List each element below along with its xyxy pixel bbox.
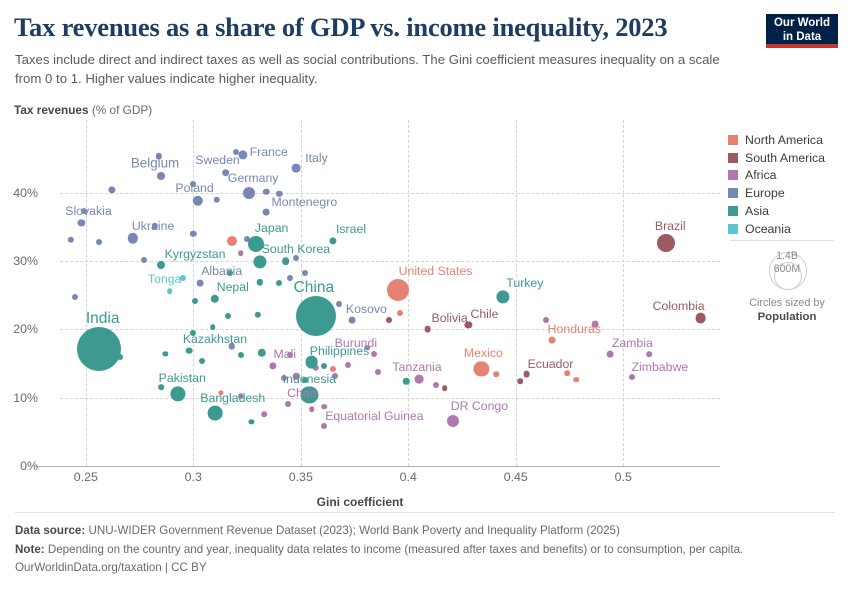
legend-item-africa[interactable]: Africa xyxy=(728,167,846,185)
scatter-point-burundi[interactable] xyxy=(371,351,377,357)
scatter-label-honduras: Honduras xyxy=(548,322,601,336)
scatter-point-belgium[interactable] xyxy=(157,172,165,180)
scatter-label-belgium: Belgium xyxy=(131,156,179,171)
scatter-point[interactable] xyxy=(68,237,74,243)
gridline-vertical xyxy=(516,120,517,466)
size-legend-caption: Circles sized by Population xyxy=(728,296,846,324)
legend-item-asia[interactable]: Asia xyxy=(728,202,846,220)
scatter-point-tanzania[interactable] xyxy=(415,375,424,384)
gridline-vertical xyxy=(623,120,624,466)
scatter-point-dr-congo[interactable] xyxy=(447,415,459,427)
scatter-label-ecuador: Ecuador xyxy=(528,357,574,371)
x-axis-tick-label: 0.4 xyxy=(400,470,417,484)
scatter-point[interactable] xyxy=(321,363,327,369)
x-axis-tick-label: 0.3 xyxy=(185,470,202,484)
scatter-label-italy: Italy xyxy=(305,151,328,165)
scatter-point[interactable] xyxy=(494,372,500,378)
gridline-horizontal xyxy=(60,193,720,194)
legend-swatch-icon xyxy=(728,170,738,180)
scatter-point-ecuador[interactable] xyxy=(523,371,530,378)
gridline-horizontal xyxy=(60,329,720,330)
scatter-point[interactable] xyxy=(249,419,254,424)
scatter-point[interactable] xyxy=(386,317,392,323)
footer-license[interactable]: OurWorldinData.org/taxation | CC BY xyxy=(15,559,835,578)
footer-source-label: Data source: xyxy=(15,524,85,537)
y-axis-tick-label: 40% xyxy=(4,186,38,200)
scatter-point-montenegro[interactable] xyxy=(263,209,270,216)
scatter-label-poland: Poland xyxy=(175,181,213,195)
legend-swatch-icon xyxy=(728,153,738,163)
scatter-point-tonga[interactable] xyxy=(167,288,173,294)
owid-logo[interactable]: Our World in Data xyxy=(766,14,838,48)
scatter-point[interactable] xyxy=(158,385,164,391)
scatter-point-india[interactable] xyxy=(77,327,121,371)
scatter-point[interactable] xyxy=(72,294,78,300)
y-axis-tick-label: 10% xyxy=(4,391,38,405)
footer-note-label: Note: xyxy=(15,543,45,556)
scatter-point[interactable] xyxy=(257,279,263,285)
scatter-point-zimbabwe[interactable] xyxy=(629,374,635,380)
scatter-point[interactable] xyxy=(276,280,282,286)
scatter-point-bangladesh[interactable] xyxy=(207,406,222,421)
scatter-point[interactable] xyxy=(227,236,237,246)
scatter-label-turkey: Turkey xyxy=(506,276,543,290)
footer-note-text: Depending on the country and year, inequ… xyxy=(48,543,743,556)
scatter-point[interactable] xyxy=(214,196,220,202)
page-title: Tax revenues as a share of GDP vs. incom… xyxy=(14,12,667,43)
chart-subtitle: Taxes include direct and indirect taxes … xyxy=(15,50,735,88)
scatter-point[interactable] xyxy=(238,251,244,257)
footer-source-text: UNU-WIDER Government Revenue Dataset (20… xyxy=(88,524,619,537)
footer-note-line: Note: Depending on the country and year,… xyxy=(15,541,835,560)
scatter-point-equatorial-guinea[interactable] xyxy=(321,423,327,429)
legend-item-label: North America xyxy=(745,133,823,147)
legend-item-label: Oceania xyxy=(745,222,791,236)
legend-item-europe[interactable]: Europe xyxy=(728,184,846,202)
scatter-label-mali: Mali xyxy=(274,347,297,361)
scatter-label-mexico: Mexico xyxy=(464,346,503,360)
scatter-point-colombia[interactable] xyxy=(695,312,706,323)
size-legend-lower-value: 600M xyxy=(728,263,846,275)
scatter-point-albania[interactable] xyxy=(196,279,203,286)
scatter-point-mexico[interactable] xyxy=(474,361,489,376)
scatter-point-nepal[interactable] xyxy=(211,294,219,302)
y-axis-label: Tax revenues (% of GDP) xyxy=(14,103,152,117)
scatter-point[interactable] xyxy=(517,378,523,384)
gridline-horizontal xyxy=(60,398,720,399)
scatter-label-ukraine: Ukraine xyxy=(132,219,174,233)
legend-item-oceania[interactable]: Oceania xyxy=(728,220,846,238)
scatter-label-bolivia: Bolivia xyxy=(431,311,467,325)
scatter-point[interactable] xyxy=(375,369,381,375)
scatter-point-brazil[interactable] xyxy=(657,234,675,252)
x-axis-tick-label: 0.25 xyxy=(74,470,98,484)
scatter-label-tonga: Tonga xyxy=(148,272,182,286)
scatter-label-indonesia: Indonesia xyxy=(283,372,336,386)
scatter-point[interactable] xyxy=(282,257,290,265)
scatter-label-kyrgyzstan: Kyrgyzstan xyxy=(165,247,226,261)
scatter-label-slovakia: Slovakia xyxy=(65,204,111,218)
legend-swatch-icon xyxy=(728,188,738,198)
scatter-point[interactable] xyxy=(302,270,308,276)
scatter-point[interactable] xyxy=(96,239,102,245)
scatter-point[interactable] xyxy=(261,411,267,417)
legend-item-label: Africa xyxy=(745,168,776,182)
scatter-point[interactable] xyxy=(433,382,439,388)
legend-item-label: Asia xyxy=(745,204,769,218)
scatter-point-chad[interactable] xyxy=(285,401,291,407)
scatter-label-brazil: Brazil xyxy=(655,219,686,233)
scatter-point[interactable] xyxy=(141,257,147,263)
scatter-label-albania: Albania xyxy=(201,264,242,278)
scatter-label-united-states: United States xyxy=(399,264,473,278)
x-axis-line xyxy=(35,466,720,467)
owid-logo-line2: in Data xyxy=(766,31,838,45)
footer-source-line: Data source: UNU-WIDER Government Revenu… xyxy=(15,522,835,541)
scatter-point[interactable] xyxy=(345,362,351,368)
scatter-point-ukraine[interactable] xyxy=(128,233,138,243)
chart-footer: Data source: UNU-WIDER Government Revenu… xyxy=(15,522,835,578)
scatter-point[interactable] xyxy=(442,385,448,391)
chart-page: Tax revenues as a share of GDP vs. incom… xyxy=(0,0,850,600)
scatter-point[interactable] xyxy=(163,351,168,356)
scatter-point-pakistan[interactable] xyxy=(171,387,186,402)
scatter-point-kyrgyzstan[interactable] xyxy=(157,261,165,269)
scatter-point[interactable] xyxy=(309,406,315,412)
scatter-point-israel[interactable] xyxy=(329,238,336,245)
y-axis-tick-label: 0% xyxy=(4,459,38,473)
legend-item-label: South America xyxy=(745,151,825,165)
scatter-point-honduras[interactable] xyxy=(549,337,556,344)
scatter-point[interactable] xyxy=(199,358,205,364)
scatter-plot-area[interactable]: 0%10%20%30%40%0.250.30.350.40.450.5Belgi… xyxy=(0,120,740,470)
x-axis-tick-label: 0.5 xyxy=(615,470,632,484)
scatter-point[interactable] xyxy=(238,352,244,358)
scatter-label-japan: Japan xyxy=(255,221,289,235)
scatter-point-slovakia[interactable] xyxy=(78,219,85,226)
scatter-point-bolivia[interactable] xyxy=(424,326,431,333)
size-legend-caption-text: Circles sized by xyxy=(749,297,825,309)
scatter-point[interactable] xyxy=(573,377,579,383)
scatter-label-equatorial-guinea: Equatorial Guinea xyxy=(325,409,423,423)
legend-divider xyxy=(730,240,834,241)
legend-item-label: Europe xyxy=(745,186,785,200)
scatter-label-china: China xyxy=(294,279,335,297)
scatter-point[interactable] xyxy=(210,324,216,330)
y-axis-tick-label: 20% xyxy=(4,322,38,336)
scatter-point-kosovo[interactable] xyxy=(349,316,356,323)
scatter-label-israel: Israel xyxy=(336,222,366,236)
x-axis-label: Gini coefficient xyxy=(0,495,720,509)
y-axis-tick-label: 30% xyxy=(4,254,38,268)
scatter-label-chile: Chile xyxy=(470,307,498,321)
gridline-vertical xyxy=(86,120,87,466)
scatter-label-philippines: Philippines xyxy=(310,344,369,358)
scatter-label-tanzania: Tanzania xyxy=(392,360,441,374)
scatter-label-germany: Germany xyxy=(228,171,279,185)
scatter-point-united-states[interactable] xyxy=(387,279,409,301)
scatter-label-india: India xyxy=(86,310,120,328)
legend-item-north-america[interactable]: North America xyxy=(728,131,846,149)
scatter-label-kazakhstan: Kazakhstan xyxy=(183,332,247,346)
scatter-label-montenegro: Montenegro xyxy=(272,195,338,209)
legend-swatch-icon xyxy=(728,135,738,145)
scatter-point[interactable] xyxy=(192,298,198,304)
scatter-label-dr-congo: DR Congo xyxy=(451,399,508,413)
scatter-point-turkey[interactable] xyxy=(496,290,509,303)
scatter-label-zimbabwe: Zimbabwe xyxy=(631,360,688,374)
scatter-point[interactable] xyxy=(287,275,293,281)
gridline-vertical xyxy=(193,120,194,466)
y-axis-label-text: Tax revenues xyxy=(14,103,89,117)
legend-item-south-america[interactable]: South America xyxy=(728,149,846,167)
scatter-point[interactable] xyxy=(255,312,261,318)
footer-divider xyxy=(15,512,835,513)
scatter-point-chile[interactable] xyxy=(465,322,472,329)
scatter-label-south-korea: South Korea xyxy=(262,242,330,256)
scatter-label-chad: Chad xyxy=(287,386,316,400)
scatter-point-south-korea[interactable] xyxy=(253,255,266,268)
legend-swatch-icon xyxy=(728,224,738,234)
scatter-point[interactable] xyxy=(336,301,342,307)
scatter-point[interactable] xyxy=(190,230,196,236)
scatter-label-france: France xyxy=(250,145,288,159)
scatter-label-nepal: Nepal xyxy=(217,280,249,294)
scatter-point[interactable] xyxy=(258,348,266,356)
scatter-point-zambia[interactable] xyxy=(607,351,614,358)
scatter-point-poland[interactable] xyxy=(192,196,202,206)
scatter-point-kazakhstan[interactable] xyxy=(186,347,193,354)
scatter-label-colombia: Colombia xyxy=(653,299,705,313)
x-axis-tick-label: 0.35 xyxy=(289,470,313,484)
scatter-point-italy[interactable] xyxy=(292,164,301,173)
scatter-point-china[interactable] xyxy=(296,296,336,336)
size-legend-metric: Population xyxy=(758,311,817,323)
scatter-point[interactable] xyxy=(397,310,403,316)
scatter-point[interactable] xyxy=(225,313,231,319)
scatter-point-mali[interactable] xyxy=(269,363,276,370)
scatter-point-germany[interactable] xyxy=(243,187,255,199)
scatter-point[interactable] xyxy=(646,351,652,357)
scatter-label-kosovo: Kosovo xyxy=(346,302,387,316)
owid-logo-line1: Our World xyxy=(766,17,838,31)
legend-swatch-icon xyxy=(728,206,738,216)
scatter-label-bangladesh: Bangladesh xyxy=(200,391,265,405)
scatter-label-pakistan: Pakistan xyxy=(159,371,206,385)
y-axis-label-unit: (% of GDP) xyxy=(92,103,152,117)
size-legend-upper-value: 1.4B xyxy=(728,250,846,262)
scatter-point[interactable] xyxy=(263,189,269,195)
scatter-label-zambia: Zambia xyxy=(612,336,653,350)
continent-legend[interactable]: North AmericaSouth AmericaAfricaEuropeAs… xyxy=(728,131,846,238)
x-axis-tick-label: 0.45 xyxy=(504,470,528,484)
scatter-label-sweden: Sweden xyxy=(195,153,239,167)
